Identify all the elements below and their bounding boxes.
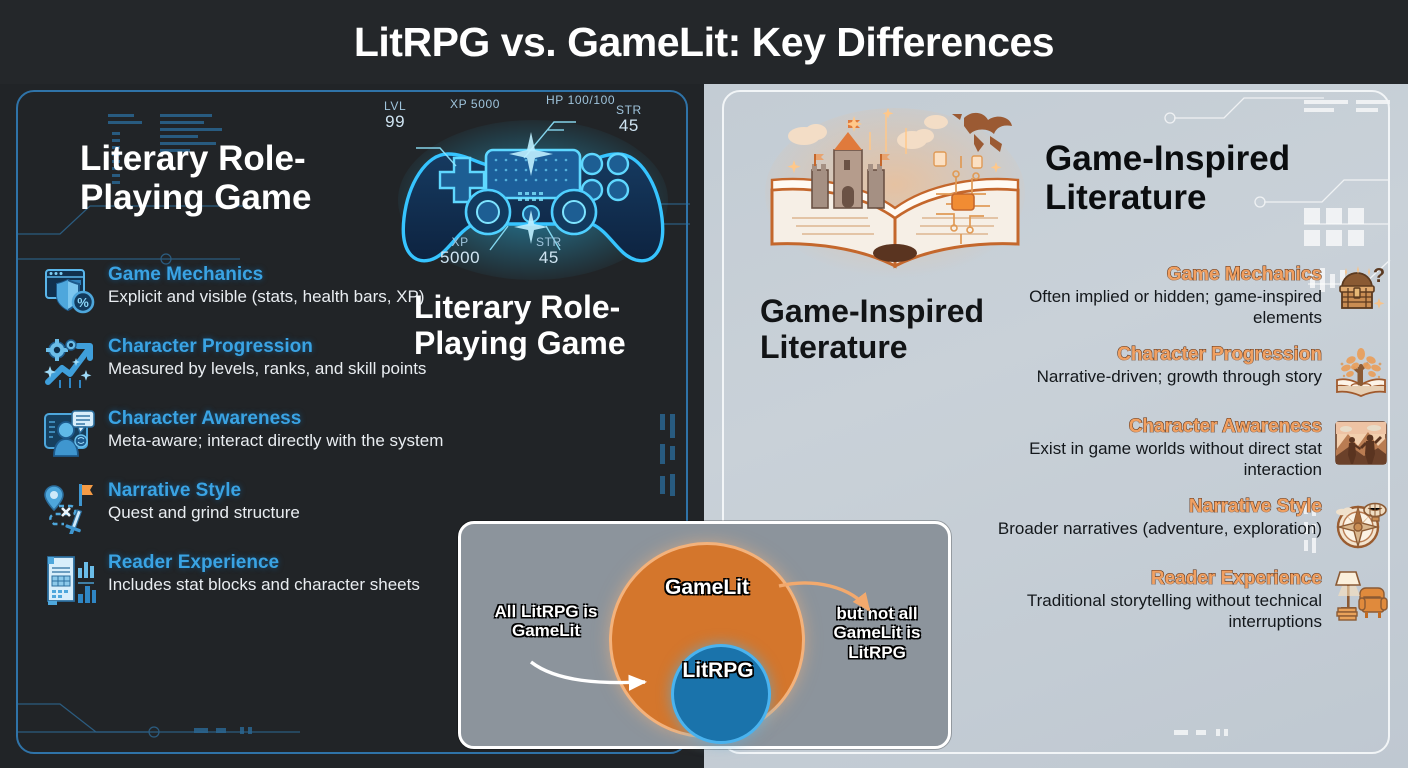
open-book-illustration (750, 98, 1040, 288)
feature-title: Character Progression (108, 336, 460, 357)
feature-title: Narrative Style (994, 496, 1322, 517)
feature-row-character-awareness: Character Awareness Meta-aware; interact… (40, 406, 460, 464)
feature-title: Reader Experience (108, 552, 460, 573)
feature-title: Game Mechanics (994, 264, 1322, 285)
venn-note-left: All LitRPG is GameLit (481, 602, 611, 641)
feature-title: Reader Experience (994, 568, 1322, 589)
litrpg-feature-list: % Game Mechanics Explicit and visible (s… (40, 262, 460, 622)
feature-text: Narrative Style Broader narratives (adve… (994, 494, 1322, 552)
feature-desc: Narrative-driven; growth through story (994, 367, 1322, 387)
feature-desc: Traditional storytelling without technic… (994, 591, 1322, 632)
two-adventurers-icon (1332, 414, 1390, 472)
hud-lvl: LVL 99 (384, 100, 406, 132)
hud-xp-top: XP 5000 (450, 98, 500, 111)
feature-text: Character Awareness Exist in game worlds… (994, 414, 1322, 480)
feature-title: Narrative Style (108, 480, 460, 501)
gamelit-feature-list: ? Game Mechanics Often implied or hidden… (994, 262, 1390, 646)
feature-row-character-progression: Character Progression Measured by levels… (40, 334, 460, 392)
litrpg-heading: Literary Role-Playing Game (80, 139, 410, 217)
feature-desc: Measured by levels, ranks, and skill poi… (108, 359, 460, 379)
shield-percent-icon: % (40, 262, 98, 320)
venn-diagram-card: GameLit LitRPG All LitRPG is GameLit but… (458, 521, 951, 749)
compass-airship-icon (1332, 494, 1390, 552)
svg-text:%: % (77, 295, 89, 310)
tree-on-book-icon (1332, 342, 1390, 400)
feature-desc: Includes stat blocks and character sheet… (108, 575, 460, 595)
feature-row-narrative-style: Narrative Style Quest and grind structur… (40, 478, 460, 536)
feature-text: Character Progression Measured by levels… (108, 334, 460, 392)
page-title: LitRPG vs. GameLit: Key Differences (354, 19, 1054, 66)
infographic-canvas: LitRPG vs. GameLit: Key Differences (0, 0, 1408, 768)
stat-sheet-chart-icon (40, 550, 98, 608)
feature-text: Game Mechanics Explicit and visible (sta… (108, 262, 460, 320)
hud-str-top: STR 45 (616, 104, 642, 136)
feature-row-character-awareness: Character Awareness Exist in game worlds… (994, 414, 1390, 480)
treasure-chest-question-icon: ? (1332, 262, 1390, 320)
open-book-icon (750, 98, 1040, 288)
gamelit-circle-label: GameLit (609, 576, 805, 600)
title-bar: LitRPG vs. GameLit: Key Differences (0, 0, 1408, 84)
feature-text: Game Mechanics Often implied or hidden; … (994, 262, 1322, 328)
feature-desc: Exist in game worlds without direct stat… (994, 439, 1322, 480)
feature-row-reader-experience: Reader Experience Traditional storytelli… (994, 566, 1390, 632)
venn-note-right: but not all GameLit is LitRPG (813, 604, 941, 662)
quest-map-sword-icon (40, 478, 98, 536)
gamelit-heading: Game-Inspired Literature (1045, 139, 1375, 217)
feature-title: Character Awareness (108, 408, 460, 429)
gamelit-sub-heading: Game-Inspired Literature (760, 294, 1020, 366)
hud-hp: HP 100/100 (546, 94, 615, 107)
avatar-chat-brain-icon (40, 406, 98, 464)
feature-text: Reader Experience Traditional storytelli… (994, 566, 1322, 632)
feature-desc: Explicit and visible (stats, health bars… (108, 287, 460, 307)
litrpg-circle-label: LitRPG (668, 659, 768, 683)
feature-row-game-mechanics: ? Game Mechanics Often implied or hidden… (994, 262, 1390, 328)
armchair-lamp-books-icon (1332, 566, 1390, 624)
svg-text:?: ? (1373, 265, 1385, 287)
feature-title: Character Progression (994, 344, 1322, 365)
feature-desc: Often implied or hidden; game-inspired e… (994, 287, 1322, 328)
feature-desc: Quest and grind structure (108, 503, 460, 523)
feature-row-game-mechanics: % Game Mechanics Explicit and visible (s… (40, 262, 460, 320)
gamelit-circle (609, 542, 805, 738)
feature-row-narrative-style: Narrative Style Broader narratives (adve… (994, 494, 1390, 552)
feature-text: Character Progression Narrative-driven; … (994, 342, 1322, 400)
gears-growth-arrow-icon (40, 334, 98, 392)
feature-desc: Meta-aware; interact directly with the s… (108, 431, 460, 451)
hud-str-bottom: STR 45 (536, 236, 562, 268)
feature-text: Narrative Style Quest and grind structur… (108, 478, 460, 536)
feature-title: Game Mechanics (108, 264, 460, 285)
feature-desc: Broader narratives (adventure, explorati… (994, 519, 1322, 539)
feature-title: Character Awareness (994, 416, 1322, 437)
feature-text: Character Awareness Meta-aware; interact… (108, 406, 460, 464)
feature-row-reader-experience: Reader Experience Includes stat blocks a… (40, 550, 460, 608)
feature-row-character-progression: Character Progression Narrative-driven; … (994, 342, 1390, 400)
feature-text: Reader Experience Includes stat blocks a… (108, 550, 460, 608)
